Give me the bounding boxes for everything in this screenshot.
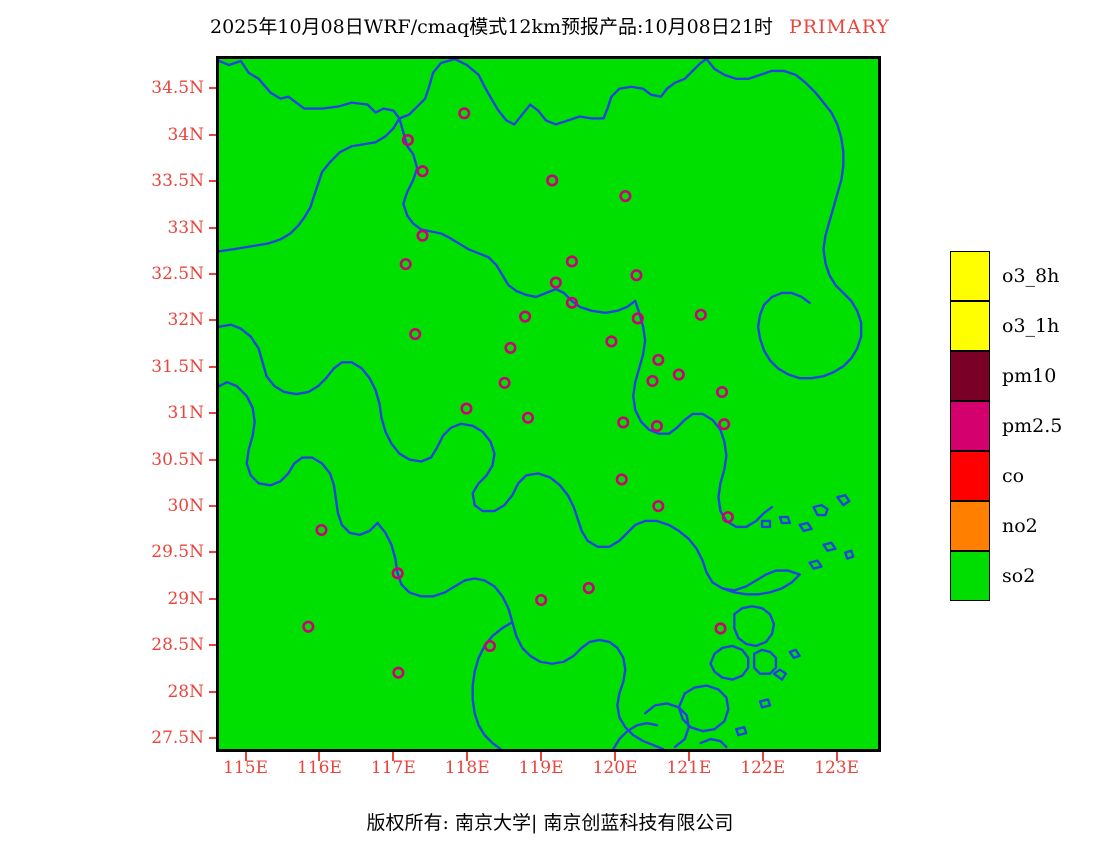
legend-label: pm2.5 <box>1002 415 1062 437</box>
x-axis-tick-label: 116E <box>297 758 342 778</box>
x-axis-tick-label: 117E <box>371 758 416 778</box>
x-axis-tick-mark <box>614 752 616 761</box>
station-marker[interactable] <box>500 378 510 388</box>
station-marker[interactable] <box>584 583 594 593</box>
x-axis-tick-label: 123E <box>814 758 859 778</box>
legend-color-swatch <box>950 301 990 351</box>
x-axis-tick-mark <box>318 752 320 761</box>
legend-row[interactable]: pm2.5 <box>950 401 1090 451</box>
legend-color-swatch <box>950 501 990 551</box>
legend-label: no2 <box>1002 515 1038 537</box>
x-axis-tick-mark <box>245 752 247 761</box>
legend-color-swatch <box>950 251 990 301</box>
legend-label: so2 <box>1002 565 1035 587</box>
station-marker[interactable] <box>547 176 557 186</box>
station-marker[interactable] <box>462 404 472 414</box>
station-markers <box>304 109 733 678</box>
station-marker[interactable] <box>567 257 577 267</box>
station-marker[interactable] <box>719 419 729 429</box>
legend-row[interactable]: no2 <box>950 501 1090 551</box>
legend-row[interactable]: so2 <box>950 551 1090 601</box>
x-axis-tick-mark <box>392 752 394 761</box>
station-marker[interactable] <box>410 329 420 339</box>
x-axis-tick-label: 121E <box>666 758 711 778</box>
station-marker[interactable] <box>401 259 411 269</box>
legend-color-swatch <box>950 401 990 451</box>
legend-label: co <box>1002 465 1024 487</box>
x-axis-tick-mark <box>688 752 690 761</box>
station-marker[interactable] <box>394 668 404 678</box>
station-marker[interactable] <box>317 525 327 535</box>
station-marker[interactable] <box>652 421 662 431</box>
station-marker[interactable] <box>617 475 627 485</box>
legend-row[interactable]: o3_1h <box>950 301 1090 351</box>
station-marker[interactable] <box>520 312 530 322</box>
legend-label: pm10 <box>1002 365 1056 387</box>
station-marker[interactable] <box>523 413 533 423</box>
legend-row[interactable]: pm10 <box>950 351 1090 401</box>
legend-color-swatch <box>950 551 990 601</box>
legend-row[interactable]: o3_8h <box>950 251 1090 301</box>
legend-row[interactable]: co <box>950 451 1090 501</box>
station-marker[interactable] <box>460 109 470 119</box>
x-axis-tick-label: 115E <box>223 758 268 778</box>
legend-color-swatch <box>950 351 990 401</box>
station-marker[interactable] <box>618 418 628 428</box>
station-marker[interactable] <box>648 376 658 386</box>
x-axis-tick-label: 118E <box>445 758 490 778</box>
station-marker[interactable] <box>716 624 726 634</box>
legend-label: o3_8h <box>1002 265 1059 287</box>
x-axis-tick-mark <box>540 752 542 761</box>
station-marker[interactable] <box>607 337 617 347</box>
station-marker[interactable] <box>485 641 495 651</box>
x-axis-tick-mark <box>762 752 764 761</box>
station-marker[interactable] <box>717 387 727 397</box>
legend-label: o3_1h <box>1002 315 1059 337</box>
station-marker[interactable] <box>418 166 428 176</box>
station-marker[interactable] <box>304 622 314 632</box>
station-marker[interactable] <box>621 191 631 201</box>
station-marker[interactable] <box>632 270 642 280</box>
legend-color-swatch <box>950 451 990 501</box>
map-canvas <box>219 59 878 749</box>
station-marker[interactable] <box>654 501 664 511</box>
x-axis-tick-label: 120E <box>593 758 638 778</box>
x-axis-tick-mark <box>466 752 468 761</box>
station-marker[interactable] <box>674 370 684 380</box>
province-boundaries <box>219 59 861 749</box>
x-axis-tick-label: 122E <box>740 758 785 778</box>
station-marker[interactable] <box>536 595 546 605</box>
x-axis-tick-label: 119E <box>519 758 564 778</box>
pollutant-legend: o3_8ho3_1hpm10pm2.5cono2so2 <box>950 251 1090 601</box>
station-marker[interactable] <box>654 355 664 365</box>
station-marker[interactable] <box>696 310 706 320</box>
station-marker[interactable] <box>506 343 516 353</box>
station-marker[interactable] <box>418 231 428 241</box>
station-marker[interactable] <box>551 278 561 288</box>
map-plot-area[interactable] <box>216 56 881 752</box>
copyright-footer: 版权所有: 南京大学| 南京创蓝科技有限公司 <box>0 808 1100 835</box>
x-axis-tick-mark <box>836 752 838 761</box>
